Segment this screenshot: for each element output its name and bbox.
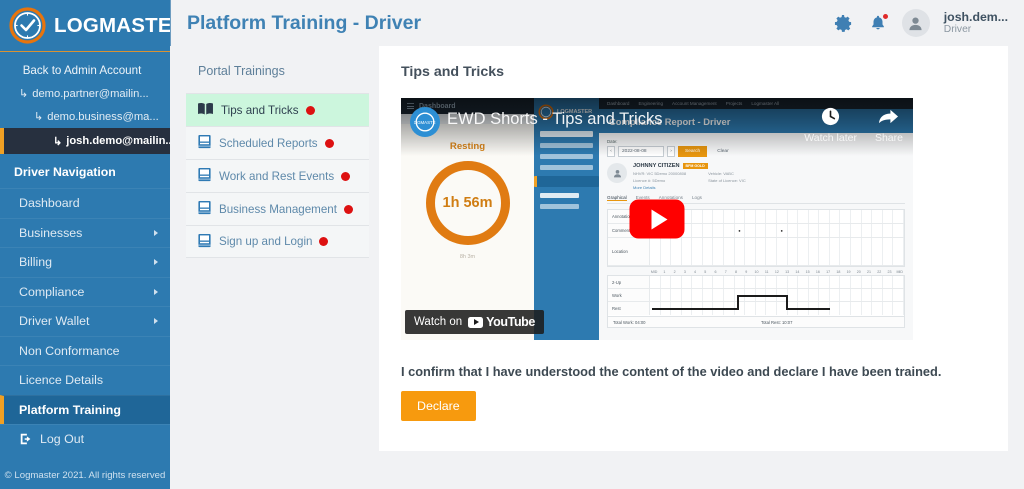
total-work: Total Work: 04:00 <box>608 317 756 327</box>
rest-timer-sub: 8h 3m <box>401 254 534 260</box>
sidebar-item-driver-wallet[interactable]: Driver Wallet <box>0 306 170 336</box>
sidebar-item-licence-details[interactable]: Licence Details <box>0 365 170 395</box>
declare-button[interactable]: Declare <box>401 391 476 421</box>
training-status-badge <box>344 205 353 214</box>
sidebar-item-non-conformance[interactable]: Non Conformance <box>0 336 170 366</box>
row-label: Location <box>608 238 650 265</box>
portal-trainings-list: Portal Trainings Tips and Tricks <box>186 46 369 451</box>
watch-later-label: Watch later <box>804 132 857 144</box>
sidebar-item-label: Dashboard <box>19 196 80 210</box>
sidebar-item-label: Billing <box>19 255 52 269</box>
total-rest: Total Rest: 10:07 <box>756 317 904 327</box>
video-actions: Watch later Share <box>804 106 903 144</box>
share-button[interactable]: Share <box>875 106 903 144</box>
watch-on-label: Watch on <box>414 316 462 328</box>
work-rest-chart: 2-Up Work <box>607 275 905 317</box>
user-meta[interactable]: josh.dem... Driver <box>944 10 1008 36</box>
driver-field: Vehicle: VABC <box>708 171 746 176</box>
sidebar-item-billing[interactable]: Billing <box>0 247 170 277</box>
row-label: 2-Up <box>608 276 650 288</box>
open-book-icon <box>197 102 214 119</box>
sidebar-item-label: Licence Details <box>19 373 103 387</box>
rest-timer-value: 1h 56m <box>443 195 493 211</box>
content-area: Portal Trainings Tips and Tricks <box>170 46 1024 451</box>
training-status-badge <box>325 139 334 148</box>
user-name: josh.dem... <box>944 10 1008 24</box>
user-role: Driver <box>944 24 1008 36</box>
user-avatar-icon[interactable] <box>902 9 930 37</box>
share-arrow-icon <box>877 106 900 130</box>
training-item-scheduled-reports[interactable]: Scheduled Reports <box>186 126 369 159</box>
tab-logs: Logs <box>692 195 702 201</box>
row-cells: ●● <box>650 224 904 237</box>
table-row: Location <box>608 238 904 266</box>
tab-graphical: Graphical <box>607 195 627 201</box>
watch-later-button[interactable]: Watch later <box>804 106 857 144</box>
back-to-admin-account[interactable]: Back to Admin Account <box>0 59 170 82</box>
brand-logo[interactable]: LOGMASTER <box>0 0 170 52</box>
clock-icon <box>820 106 841 130</box>
sub-account-arrow-icon: ↳ <box>19 87 28 100</box>
training-item-sign-up-and-login[interactable]: Sign up and Login <box>186 225 369 258</box>
app-root: LOGMASTER Back to Admin Account ↳ demo.p… <box>0 0 1024 489</box>
chevron-right-icon <box>154 289 158 295</box>
sidebar-item-label: Log Out <box>40 432 84 446</box>
training-status-badge <box>306 106 315 115</box>
page-title: Platform Training - Driver <box>187 12 421 35</box>
sub-account-arrow-icon: ↳ <box>34 110 43 123</box>
sidebar-item-dashboard[interactable]: Dashboard <box>0 188 170 218</box>
training-item-label: Scheduled Reports <box>219 137 318 150</box>
training-detail-card: Tips and Tricks Dashboard Resting 1h 56m <box>379 46 1008 451</box>
sidebar-item-platform-training[interactable]: Platform Training <box>0 395 170 425</box>
account-switcher: Back to Admin Account ↳ demo.partner@mai… <box>0 52 170 154</box>
card-title: Tips and Tricks <box>401 64 986 80</box>
book-icon <box>197 167 212 185</box>
account-label: demo.business@ma... <box>47 111 158 123</box>
account-josh-demo-active[interactable]: ↳ josh.demo@mailin... <box>0 128 170 154</box>
rest-timer: Resting 1h 56m 8h 3m <box>401 141 534 260</box>
svg-text:LOGMASTER: LOGMASTER <box>414 120 436 125</box>
sidebar-item-compliance[interactable]: Compliance <box>0 277 170 307</box>
sidebar: LOGMASTER Back to Admin Account ↳ demo.p… <box>0 0 170 489</box>
sidebar-item-label: Businesses <box>19 226 82 240</box>
clock-check-icon <box>9 7 46 44</box>
sidebar-item-log-out[interactable]: Log Out <box>0 424 170 454</box>
top-bar-actions: josh.dem... Driver <box>834 9 1008 37</box>
book-icon <box>197 200 212 218</box>
chart-totals: Total Work: 04:00 Total Rest: 10:07 <box>607 317 905 328</box>
thumbnail-mid-logout <box>540 204 579 209</box>
account-label: josh.demo@mailin... <box>66 135 170 147</box>
book-icon <box>197 233 212 251</box>
channel-avatar-icon[interactable]: LOGMASTER <box>410 107 440 137</box>
brand-name: LOGMASTER <box>54 14 187 38</box>
account-demo-business[interactable]: ↳ demo.business@ma... <box>0 105 170 128</box>
row-cells <box>650 238 904 265</box>
rest-timer-ring: 1h 56m <box>426 161 510 245</box>
more-details-link: More Details <box>633 185 905 190</box>
sidebar-item-label: Non Conformance <box>19 344 120 358</box>
training-status-badge <box>319 237 328 246</box>
chart-axis: MID1234567891011121314151617181920212223… <box>607 270 905 274</box>
training-item-business-management[interactable]: Business Management <box>186 192 369 225</box>
sidebar-item-label: Compliance <box>19 285 84 299</box>
row-label: Rest <box>608 302 650 315</box>
training-item-work-and-rest-events[interactable]: Work and Rest Events <box>186 159 369 192</box>
driver-avatar-icon <box>607 163 627 183</box>
bell-icon[interactable] <box>868 13 888 33</box>
driver-field: NHVR: VIC 5Demo 20000808 <box>633 171 686 176</box>
driver-summary: JOHNNY CITIZENBFM GOLD NHVR: VIC 5Demo 2… <box>607 163 905 190</box>
video-title[interactable]: EWD Shorts - Tips and Tricks <box>447 110 662 129</box>
main-area: Platform Training - Driver <box>170 0 1024 489</box>
row-label: Work <box>608 289 650 301</box>
youtube-wordmark: YouTube <box>486 315 535 329</box>
chevron-right-icon <box>154 259 158 265</box>
logout-icon <box>19 432 33 446</box>
thumbnail-mid-settings-header <box>540 193 579 199</box>
portal-trainings-heading: Portal Trainings <box>186 46 369 93</box>
sub-account-arrow-icon: ↳ <box>53 135 62 148</box>
driver-field: Licence #: 5Demo <box>633 178 686 183</box>
thumbnail-mid-nav-item-active <box>534 176 599 187</box>
training-item-label: Work and Rest Events <box>219 170 334 183</box>
sidebar-item-label: Platform Training <box>19 403 121 417</box>
driver-field: State of Licence: VIC <box>708 178 746 183</box>
watch-on-youtube-button[interactable]: Watch on YouTube <box>405 310 544 334</box>
work-rest-trace <box>650 276 910 316</box>
training-item-label: Business Management <box>219 203 337 216</box>
training-item-tips-and-tricks[interactable]: Tips and Tricks <box>186 93 369 126</box>
driver-badge: BFM GOLD <box>683 163 708 169</box>
training-status-badge <box>341 172 350 181</box>
sidebar-item-businesses[interactable]: Businesses <box>0 218 170 248</box>
top-bar: Platform Training - Driver <box>170 0 1024 46</box>
book-icon <box>197 134 212 152</box>
chevron-right-icon <box>154 318 158 324</box>
sidebar-item-label: Driver Wallet <box>19 314 89 328</box>
gear-icon[interactable] <box>834 13 854 33</box>
account-label: demo.partner@mailin... <box>32 88 148 100</box>
training-item-label: Tips and Tricks <box>221 104 299 117</box>
youtube-logo-icon: YouTube <box>468 315 535 329</box>
video-player[interactable]: Dashboard Resting 1h 56m 8h 3m <box>401 98 913 340</box>
share-label: Share <box>875 132 903 144</box>
thumbnail-mid-nav-item <box>540 165 593 170</box>
declaration-text: I confirm that I have understood the con… <box>401 364 986 379</box>
notification-badge <box>882 13 889 20</box>
chevron-right-icon <box>154 230 158 236</box>
training-item-label: Sign up and Login <box>219 235 312 248</box>
nav-section-header: Driver Navigation <box>0 154 170 188</box>
youtube-play-icon[interactable] <box>630 200 685 239</box>
copyright-text: © Logmaster 2021. All rights reserved <box>0 470 170 481</box>
row-cells <box>650 210 904 223</box>
account-demo-partner[interactable]: ↳ demo.partner@mailin... <box>0 82 170 105</box>
